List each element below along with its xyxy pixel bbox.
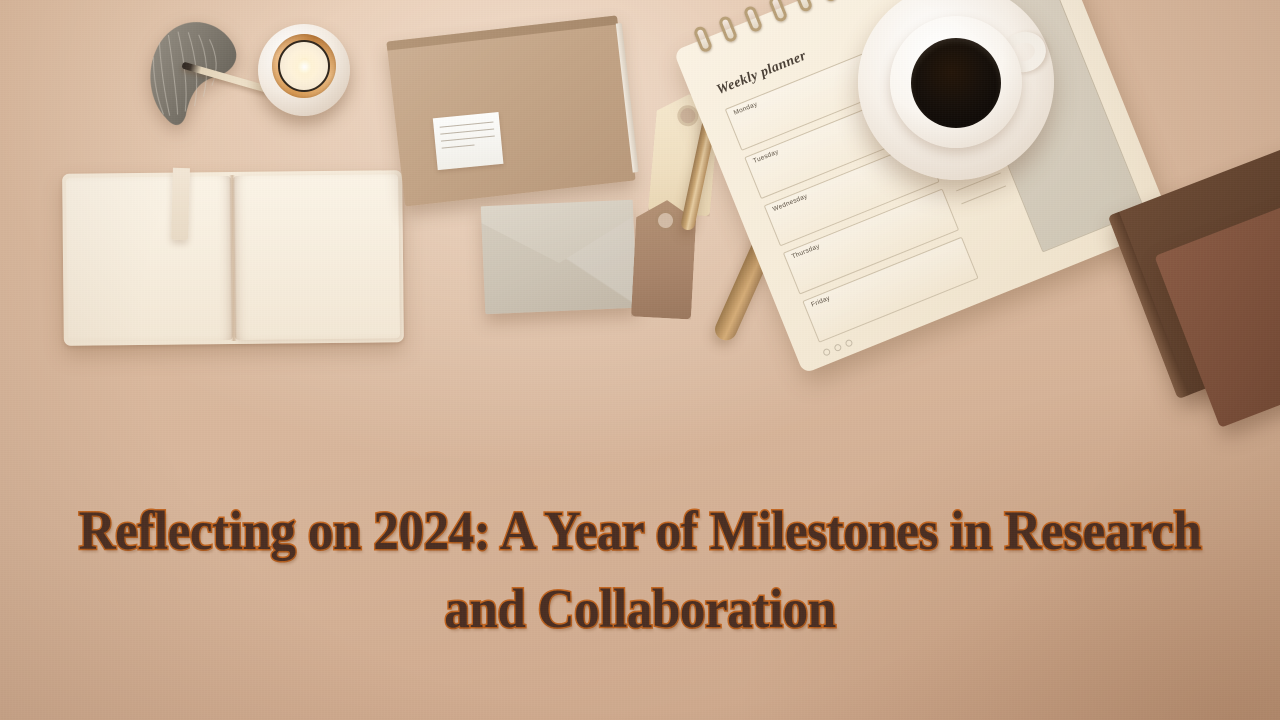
folder-page-block [616, 23, 639, 173]
notebook-left-page [66, 176, 233, 342]
planner-checkbox-row [822, 339, 853, 357]
kraft-paper-folder [386, 15, 635, 206]
tag-eyelet [680, 108, 696, 124]
open-notebook [62, 170, 404, 346]
tag-eyelet [658, 213, 674, 229]
shell-trinket-dish-icon [133, 11, 253, 135]
black-coffee-surface [911, 38, 1001, 128]
planner-checkbox [844, 339, 853, 348]
notebook-ribbon-bookmark [171, 168, 190, 240]
paper-envelope [481, 200, 638, 315]
flatlay-desk-scene: Weekly planner Monday Tuesday Wednesday … [0, 0, 1280, 720]
planner-checkbox [833, 343, 842, 352]
spiral-coil [818, 0, 839, 3]
page-title: Reflecting on 2024: A Year of Milestones… [45, 492, 1235, 648]
folder-address-label [433, 112, 504, 170]
folder-top-edge [386, 15, 618, 50]
candle-flame-icon [298, 58, 311, 74]
spiral-coil [718, 15, 739, 44]
notebook-right-page [233, 174, 400, 340]
spiral-coil [793, 0, 814, 13]
planner-checkbox [822, 348, 831, 357]
spiral-coil [768, 0, 789, 23]
spiral-coil [693, 25, 714, 54]
tea-light-candle [258, 14, 350, 118]
spiral-coil [743, 5, 764, 34]
